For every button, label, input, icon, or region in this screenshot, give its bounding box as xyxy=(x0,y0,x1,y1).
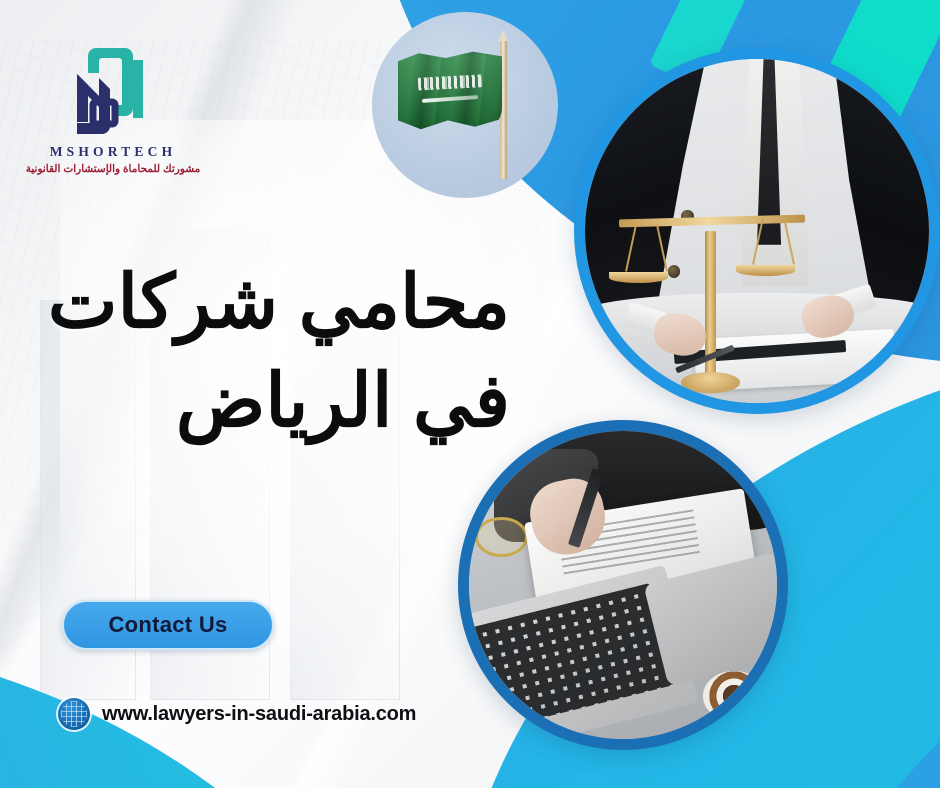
headline-line-2: في الرياض xyxy=(30,351,510,450)
contact-us-button[interactable]: Contact Us xyxy=(62,600,274,650)
ms-monogram-icon xyxy=(59,44,167,136)
headline-line-1: محامي شركات xyxy=(48,260,510,343)
brand-logo[interactable]: MSHORTECH مشورتك للمحاماة والإستشارات ال… xyxy=(18,44,208,175)
website-link[interactable]: www.lawyers-in-saudi-arabia.com xyxy=(58,698,416,730)
writing-document-laptop-photo xyxy=(458,420,788,750)
laptop-keyboard xyxy=(458,583,674,732)
saudi-flag-icon xyxy=(398,50,502,130)
contact-us-label: Contact Us xyxy=(108,612,227,638)
poster-canvas: MSHORTECH مشورتك للمحاماة والإستشارات ال… xyxy=(0,0,940,788)
website-url-text: www.lawyers-in-saudi-arabia.com xyxy=(102,703,416,726)
logo-tagline: مشورتك للمحاماة والإستشارات القانونية xyxy=(18,163,208,175)
globe-icon xyxy=(58,698,90,730)
scales-base xyxy=(681,372,739,393)
logo-wordmark: MSHORTECH xyxy=(18,144,208,160)
lawyer-with-scales-photo xyxy=(574,48,940,414)
photo-scene xyxy=(585,59,929,403)
suit-button xyxy=(668,265,680,277)
flag-shahada-text xyxy=(418,74,483,90)
page-title: محامي شركات في الرياض xyxy=(30,252,510,450)
saudi-flag-circle xyxy=(372,12,558,198)
photo-scene xyxy=(469,431,777,739)
flag-sword-icon xyxy=(422,95,478,103)
eyeglasses-icon xyxy=(475,517,527,557)
coffee-cup xyxy=(703,671,765,720)
